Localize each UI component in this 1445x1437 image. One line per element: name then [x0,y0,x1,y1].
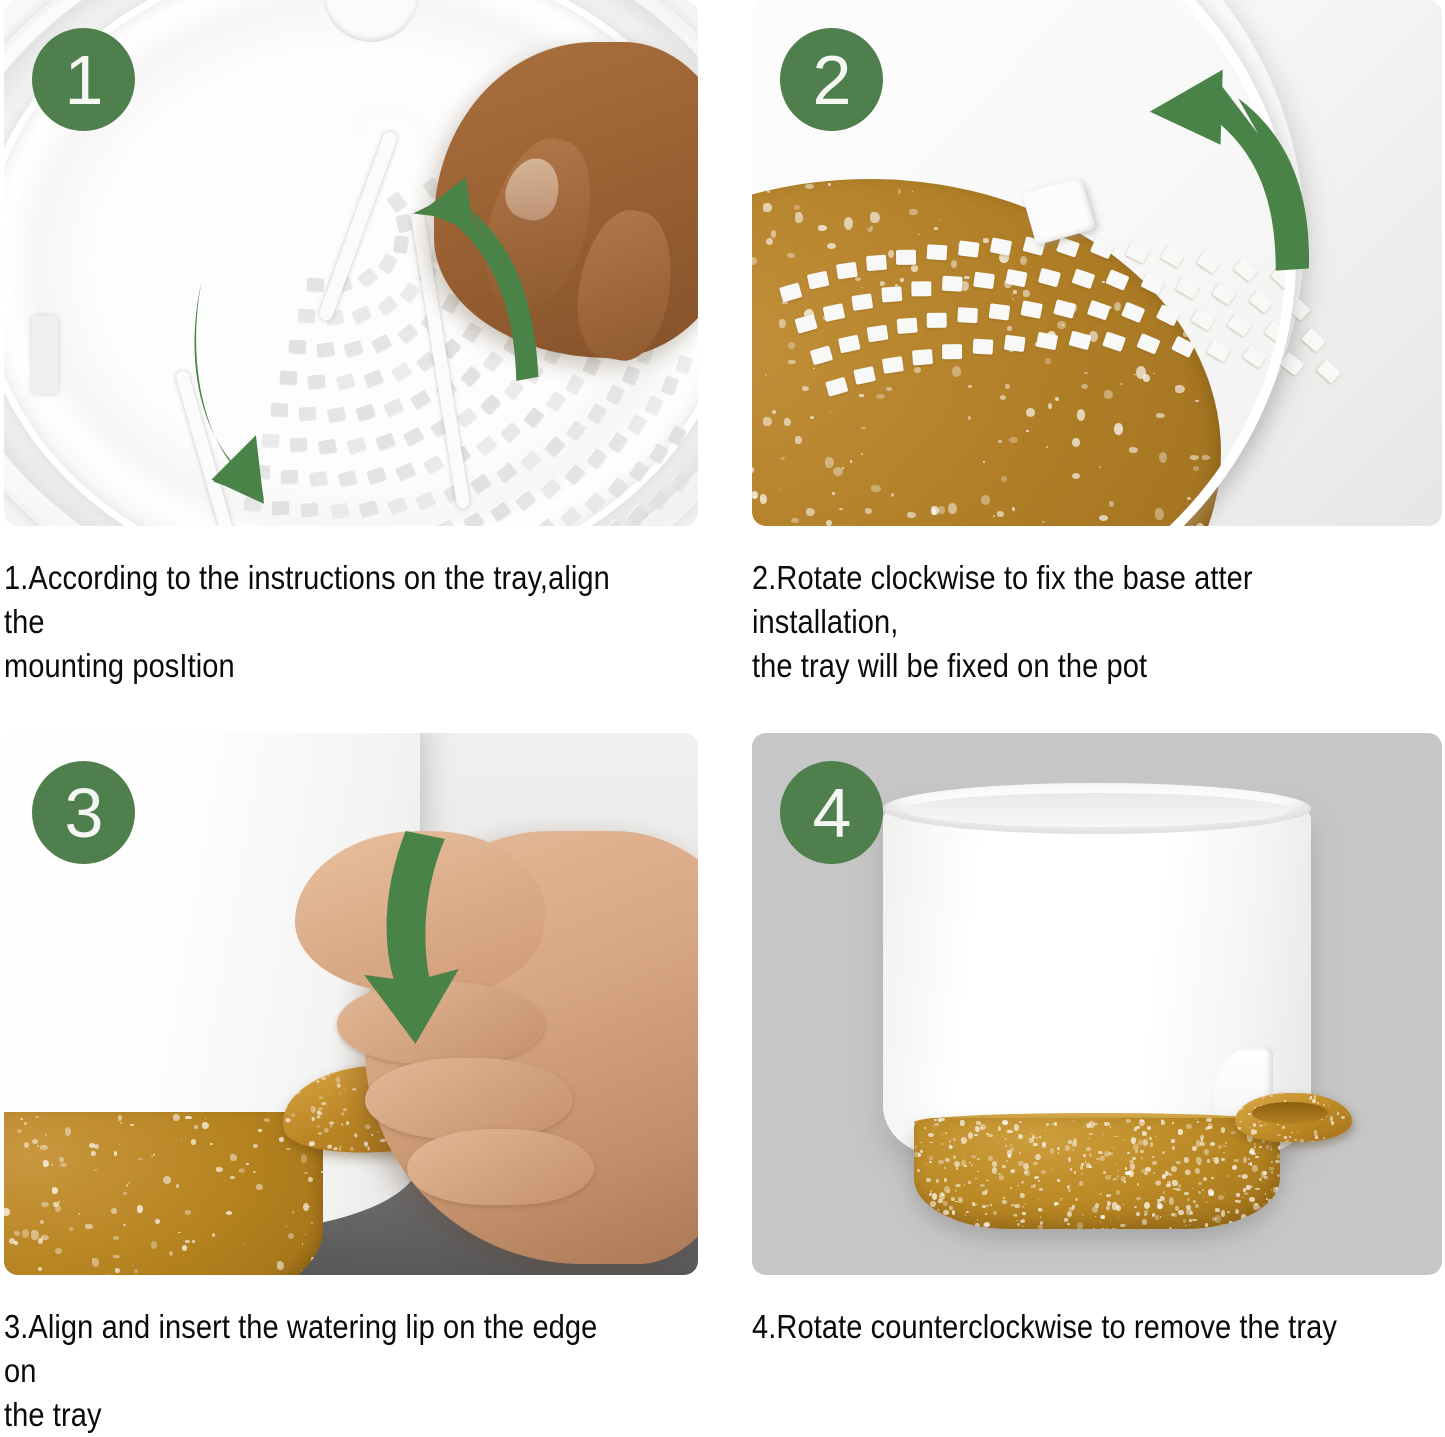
speckle [1152,1156,1155,1158]
speckle [1323,1137,1325,1139]
speckle [1125,1167,1127,1170]
speckle [964,1184,965,1185]
speckle [289,1095,292,1099]
speckle [1016,1220,1019,1222]
speckle [339,1092,340,1094]
speckle [1093,1228,1095,1229]
speckle [202,1122,209,1128]
speckle [1253,1123,1256,1127]
speckle [1248,1220,1250,1223]
speckle [948,1217,952,1222]
speckle [1144,1210,1148,1214]
speckle [210,1143,212,1144]
speckle [1131,1137,1136,1143]
speckle [1142,1131,1147,1135]
speckle [1100,1156,1105,1162]
speckle [1100,1221,1101,1222]
speckle [364,1124,370,1129]
speckle [932,1126,933,1127]
speckle [1033,1170,1034,1171]
speckle [1271,1161,1273,1164]
speckle [1149,1137,1152,1140]
speckle [1202,1189,1205,1192]
speckle [258,1129,262,1132]
speckle [965,1214,967,1216]
speckle [986,1180,989,1182]
speckle [1155,1215,1159,1221]
speckle [1206,1118,1211,1122]
speckle [1248,1158,1249,1160]
speckle [930,1201,936,1206]
speckle [1141,1120,1144,1122]
speckle [1020,1193,1025,1198]
speckle [346,1121,349,1125]
perforation-cell [1302,328,1327,353]
speckle [1214,1226,1219,1229]
speckle [1033,1162,1038,1165]
speckle [1169,1227,1172,1229]
speckle [1281,1094,1282,1095]
speckle [1203,1196,1204,1197]
speckle [1098,1151,1103,1154]
speckle [286,1148,291,1151]
speckle [1040,1216,1041,1217]
speckle [1095,1203,1099,1208]
speckle [301,1270,302,1271]
speckle [1143,1139,1148,1146]
speckle [1058,1152,1060,1153]
speckle [1120,1224,1124,1227]
tray-hole [644,395,663,416]
speckle [1196,523,1203,526]
speckle [1162,1151,1164,1153]
speckled-tan-tray [4,1112,323,1275]
speckle [1341,1116,1345,1119]
speckle [1277,1134,1281,1136]
speckle [1011,1169,1015,1172]
tray-hole [607,477,628,498]
speckle [304,1172,308,1175]
speckle [1184,1192,1189,1195]
tray-hole [621,365,639,386]
speckle [1239,1105,1243,1110]
speckle [169,1251,173,1256]
speckle [1206,1201,1207,1203]
speckle [1329,1121,1331,1123]
speckle [176,1184,180,1188]
speckle [1211,1177,1214,1179]
speckle [309,1206,311,1208]
speckle [1200,1135,1204,1141]
speckle [914,1152,919,1158]
speckle [256,1184,263,1190]
perforation-cell [1280,351,1305,375]
speckle [1277,1174,1279,1177]
speckle [1248,1113,1251,1116]
tray-hole [470,474,491,494]
speckle [191,1139,196,1145]
speckle [1208,1189,1214,1196]
speckle [1133,1144,1139,1150]
speckle [1198,1182,1201,1185]
speckle [1196,1119,1198,1120]
speckle [1238,1175,1241,1177]
speckle [1041,1170,1046,1174]
speckle [1083,1126,1084,1127]
speckle [230,1154,236,1161]
speckle [1195,1204,1200,1208]
speckle [1189,1224,1190,1225]
speckle [1123,1139,1124,1141]
speckle [1022,1212,1026,1215]
speckle [953,1138,956,1141]
step-caption-1: 1.According to the instructions on the t… [4,556,615,688]
speckle [128,1182,130,1184]
speckle [1034,1176,1038,1179]
tray-hole [410,390,431,410]
speckle [1166,1184,1171,1187]
tray-hole [489,502,510,522]
speckle [1162,1174,1167,1179]
step-3-photo: 3 [4,733,698,1275]
speckle [1323,1104,1325,1106]
speckle [1337,1112,1340,1115]
speckle [1259,1121,1261,1122]
speckle [1115,1178,1118,1180]
speckle [1270,1221,1276,1226]
speckle [226,1211,233,1215]
speckle [24,1122,27,1125]
speckle [1106,1194,1110,1197]
speckle [992,1167,997,1173]
speckle [1057,1179,1060,1182]
speckle [341,1112,345,1115]
speckle [1255,1156,1259,1159]
speckle [1113,1147,1114,1149]
speckle [955,1184,961,1187]
speckle [924,1127,926,1129]
speckle [311,1222,314,1224]
tray-hole [649,489,669,510]
speckle [971,1155,976,1159]
tray-hole [523,407,544,428]
speckle [1237,1127,1241,1130]
tray-hole [480,394,501,415]
speckle [1079,1181,1083,1186]
speckle [1187,1198,1189,1201]
speckle [1126,1119,1131,1124]
speckle [1045,1129,1046,1131]
tray-hole [540,478,561,499]
speckle [1002,1200,1008,1204]
speckle [1019,1152,1021,1154]
speckle [1015,1214,1018,1217]
tray-hole [670,472,690,493]
speckle [1010,1147,1014,1152]
speckle [137,1205,144,1213]
speckle [363,1141,368,1147]
finger-2 [365,1058,573,1139]
speckle [78,1213,80,1215]
speckle [1251,1214,1254,1216]
speckle [1276,1207,1280,1210]
speckle [1050,1148,1054,1153]
speckle [1223,1145,1226,1147]
speckle [932,1193,937,1200]
speckle [1025,1203,1027,1205]
speckle [1257,1223,1261,1228]
step-1-photo: 1 [4,0,698,526]
speckle [944,1178,947,1183]
speckle [1264,1124,1266,1126]
speckle [1075,1198,1078,1201]
speckle [1275,1160,1280,1163]
speckle [1244,1223,1249,1229]
speckle [966,1211,969,1213]
tray-hole [495,463,516,484]
speckle [1018,1134,1024,1139]
speckle [303,1203,309,1211]
speckle [1263,1204,1265,1205]
speckle [1339,1095,1342,1100]
speckle [1039,1136,1042,1138]
speckle [933,1219,934,1221]
speckle [350,1146,353,1150]
speckle [1312,1099,1316,1103]
speckle [983,1223,988,1227]
speckle [155,1219,160,1225]
speckle [1278,1146,1279,1150]
speckle [1314,1095,1317,1099]
speckle [1197,1121,1199,1123]
speckle [113,1236,119,1240]
speckle [1259,1178,1262,1181]
tray-hole [628,460,648,481]
speckle [1086,1163,1091,1168]
speckle [1002,1165,1006,1168]
speckle [1176,1161,1181,1164]
speckle [309,1141,315,1146]
speckle [927,1216,932,1224]
speckle [953,1155,957,1159]
speckle [239,1168,245,1172]
speckle [288,1233,294,1239]
speckle [1014,1204,1020,1209]
speckle [1155,1181,1160,1185]
speckle [1314,1134,1317,1136]
speckle [318,1096,322,1099]
speckle [1022,1181,1025,1183]
speckle [1150,1142,1153,1147]
tray-hole [586,403,606,424]
speckle [1204,1149,1209,1154]
speckle [1164,1201,1166,1202]
speckle [286,1226,287,1227]
speckle [1022,1226,1024,1227]
speckle [929,1156,932,1160]
speckle [1347,1115,1348,1116]
speckle [1068,1157,1072,1162]
speckle [988,1156,993,1161]
speckle [65,1127,72,1136]
speckle [930,1213,932,1214]
speckle [134,1269,138,1273]
speckle [1225,1142,1227,1145]
step-panel-2: 2 2.Rotate clockwise to fix the base att… [752,0,1442,688]
speckle [1139,1187,1140,1188]
speckle [212,1233,216,1237]
speckle [304,1148,306,1149]
tray-hole [584,492,605,513]
speckle [945,1132,947,1133]
speckle [1127,1152,1130,1154]
speckle [1242,1174,1248,1178]
speckle [986,1205,988,1207]
speckle [1192,1146,1197,1151]
speckle [1019,1121,1023,1123]
speckle [320,1266,323,1273]
speckle [1282,1126,1285,1129]
speckle [1196,1157,1202,1164]
speckle [326,1144,332,1149]
step-caption-2: 2.Rotate clockwise to fix the base atter… [752,556,1359,688]
speckle [1068,1140,1072,1145]
speckle [321,1076,326,1080]
speckle [1198,1191,1202,1194]
speckle [1140,1150,1144,1153]
speckle [1033,1143,1038,1146]
speckle [1269,1167,1274,1171]
speckle [1310,1141,1313,1142]
pot-inner-wall [904,793,1290,828]
speckle [151,1241,157,1248]
speckle [1185,1225,1187,1226]
speckle [920,1142,922,1143]
step-caption-3: 3.Align and insert the watering lip on t… [4,1305,615,1437]
speckle [1160,1216,1161,1218]
speckle [1022,1206,1024,1208]
speckle [1255,1188,1260,1190]
speckle [1241,1214,1247,1222]
speckle [990,1188,991,1189]
speckle [310,1106,316,1113]
speckle [1134,1206,1137,1208]
speckle [915,1146,917,1148]
speckle [1234,1159,1239,1162]
speckle [1080,1165,1084,1170]
speckle [1266,1227,1271,1229]
speckle [41,1235,49,1239]
speckle [1116,1190,1119,1194]
speckle [1006,1160,1009,1162]
speckle [1060,1199,1062,1201]
tray-hole [667,425,686,446]
speckle [371,1134,373,1136]
speckle [1192,1165,1194,1166]
finger-3 [407,1129,594,1205]
speckle [20,1118,23,1120]
speckle [1172,1213,1176,1217]
speckle [1118,1217,1119,1218]
speckle [968,1132,973,1139]
speckle [1051,1168,1053,1170]
speckle [336,1083,341,1087]
speckle [317,1110,321,1114]
tray-hole [535,518,556,526]
speckle [1228,1228,1234,1229]
speckle [1141,1157,1143,1159]
speckle [323,1127,329,1133]
speckle [955,1201,958,1203]
speckle [959,1223,963,1229]
speckle [943,1201,949,1206]
speckle [45,1134,47,1136]
tray-hole [604,520,625,526]
speckle [1074,1171,1076,1174]
step-badge-2: 2 [780,28,883,131]
speckle [17,1129,22,1132]
speckle [974,1204,976,1205]
speckle [246,1163,248,1164]
speckle [1144,1202,1150,1209]
speckle [934,1119,937,1121]
speckle [980,1184,986,1187]
tray-hole [564,464,585,485]
speckle [941,1134,943,1136]
speckle [1060,1220,1061,1221]
speckle [1136,1126,1140,1129]
speckle [264,1118,271,1122]
speckle [1130,1163,1135,1170]
tray-hole [648,443,668,464]
speckle [1103,1134,1104,1135]
speckle [1006,1123,1007,1124]
speckle [945,1158,950,1162]
speckle [976,1121,980,1124]
step-panel-1: 1 1.According to the instructions on the… [4,0,698,688]
speckle [31,1230,39,1240]
speckle [1036,1137,1039,1139]
speckle [305,1234,306,1235]
speckle [1172,1146,1175,1150]
speckle [1207,1159,1211,1162]
speckle [1157,1202,1162,1209]
speckle [1203,1177,1207,1181]
speckle [1258,1206,1261,1209]
speckle [1038,1225,1043,1229]
speckle [936,1179,940,1183]
speckle [944,1167,946,1169]
tray-hole [423,455,444,475]
speckle [1252,1165,1258,1172]
speckle [288,1075,291,1079]
speckle [321,1101,326,1105]
speckle [24,1142,29,1148]
speckle [1284,1136,1287,1139]
tray-hole [520,450,541,471]
step-number-4: 4 [813,778,851,848]
speckle [990,1204,993,1206]
speckle [94,1169,97,1171]
tray-hole [383,398,404,417]
speckle [975,1223,980,1229]
speckle [1038,1180,1040,1182]
speckle [1105,1175,1111,1180]
speckle [367,1146,370,1150]
speckle [1351,1112,1352,1115]
tray-hole [675,355,692,375]
tray-hole [500,422,521,443]
